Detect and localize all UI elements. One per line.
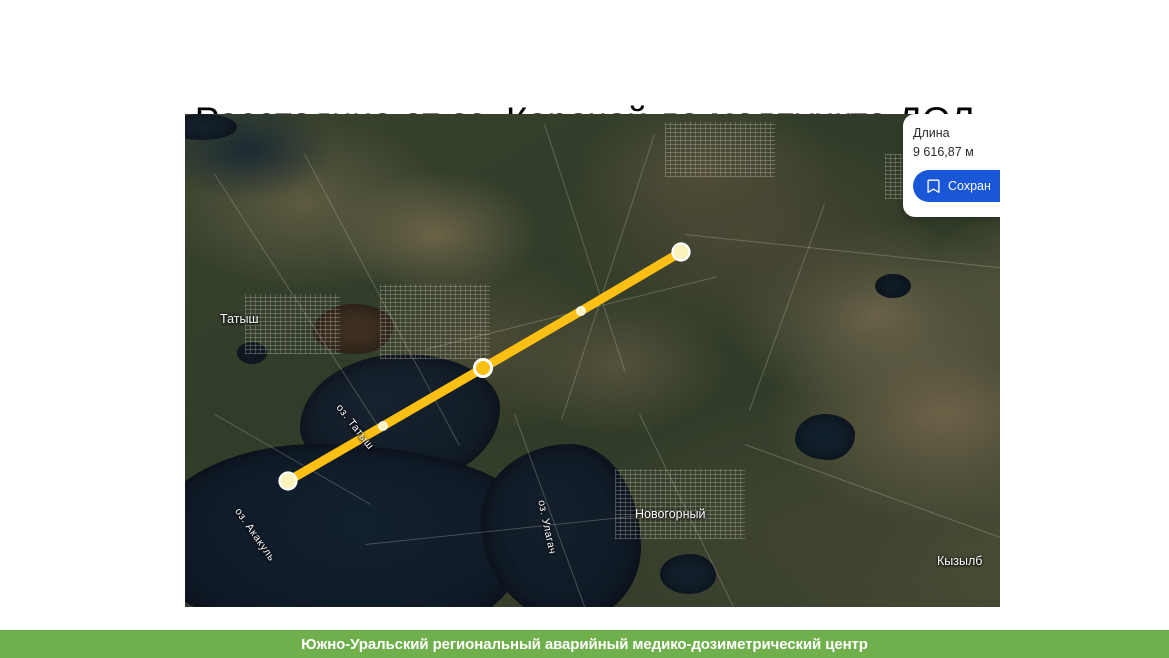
measure-end-point[interactable] (673, 244, 690, 261)
save-button-label: Сохран (948, 179, 991, 193)
length-info-card: Длина 9 616,87 м Сохран (903, 114, 1000, 217)
footer-text: Южно-Уральский региональный аварийный ме… (301, 636, 868, 653)
length-card-title: Длина (913, 126, 1000, 142)
measure-vertex-1[interactable] (379, 422, 387, 430)
satellite-map[interactable]: Татыш Новогорный Кызылб оз. Татыш оз. Ак… (185, 114, 1000, 607)
bookmark-icon (927, 179, 940, 194)
footer-bar: Южно-Уральский региональный аварийный ме… (0, 630, 1169, 658)
length-card-value: 9 616,87 м (913, 143, 1000, 161)
save-button[interactable]: Сохран (913, 170, 1000, 202)
measure-vertex-3[interactable] (577, 307, 585, 315)
distance-measure-overlay[interactable] (185, 114, 1000, 607)
measure-start-point[interactable] (280, 473, 297, 490)
measure-vertex-2[interactable] (475, 360, 492, 377)
